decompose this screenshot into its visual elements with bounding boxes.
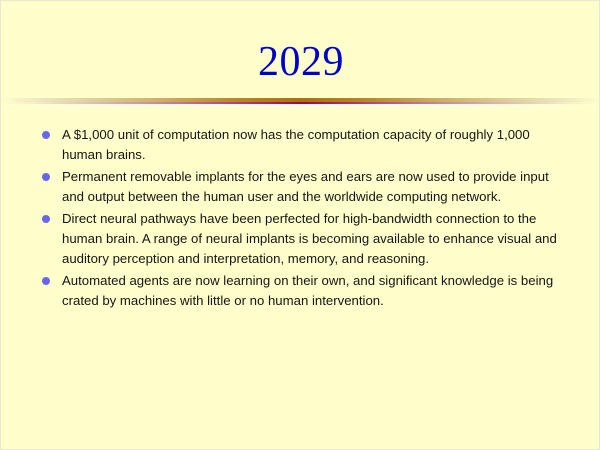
- bullet-text: Direct neural pathways have been perfect…: [62, 209, 567, 269]
- bullet-dot-icon: [42, 173, 50, 181]
- bullet-dot-icon: [42, 215, 50, 223]
- bullet-dot-icon: [42, 277, 50, 285]
- bullet-text: Permanent removable implants for the eye…: [62, 167, 567, 207]
- bullet-dot-icon: [42, 131, 50, 139]
- divider-haze-rule: [1, 104, 600, 107]
- slide-bullet-list: A $1,000 unit of computation now has the…: [39, 125, 567, 313]
- list-item: Direct neural pathways have been perfect…: [39, 209, 567, 269]
- list-item: A $1,000 unit of computation now has the…: [39, 125, 567, 165]
- bullet-text: A $1,000 unit of computation now has the…: [62, 125, 567, 165]
- title-divider: [1, 98, 600, 107]
- bullet-text: Automated agents are now learning on the…: [62, 271, 567, 311]
- list-item: Automated agents are now learning on the…: [39, 271, 567, 311]
- slide-title: 2029: [1, 39, 600, 85]
- list-item: Permanent removable implants for the eye…: [39, 167, 567, 207]
- presentation-slide: 2029 A $1,000 unit of computation now ha…: [0, 0, 600, 450]
